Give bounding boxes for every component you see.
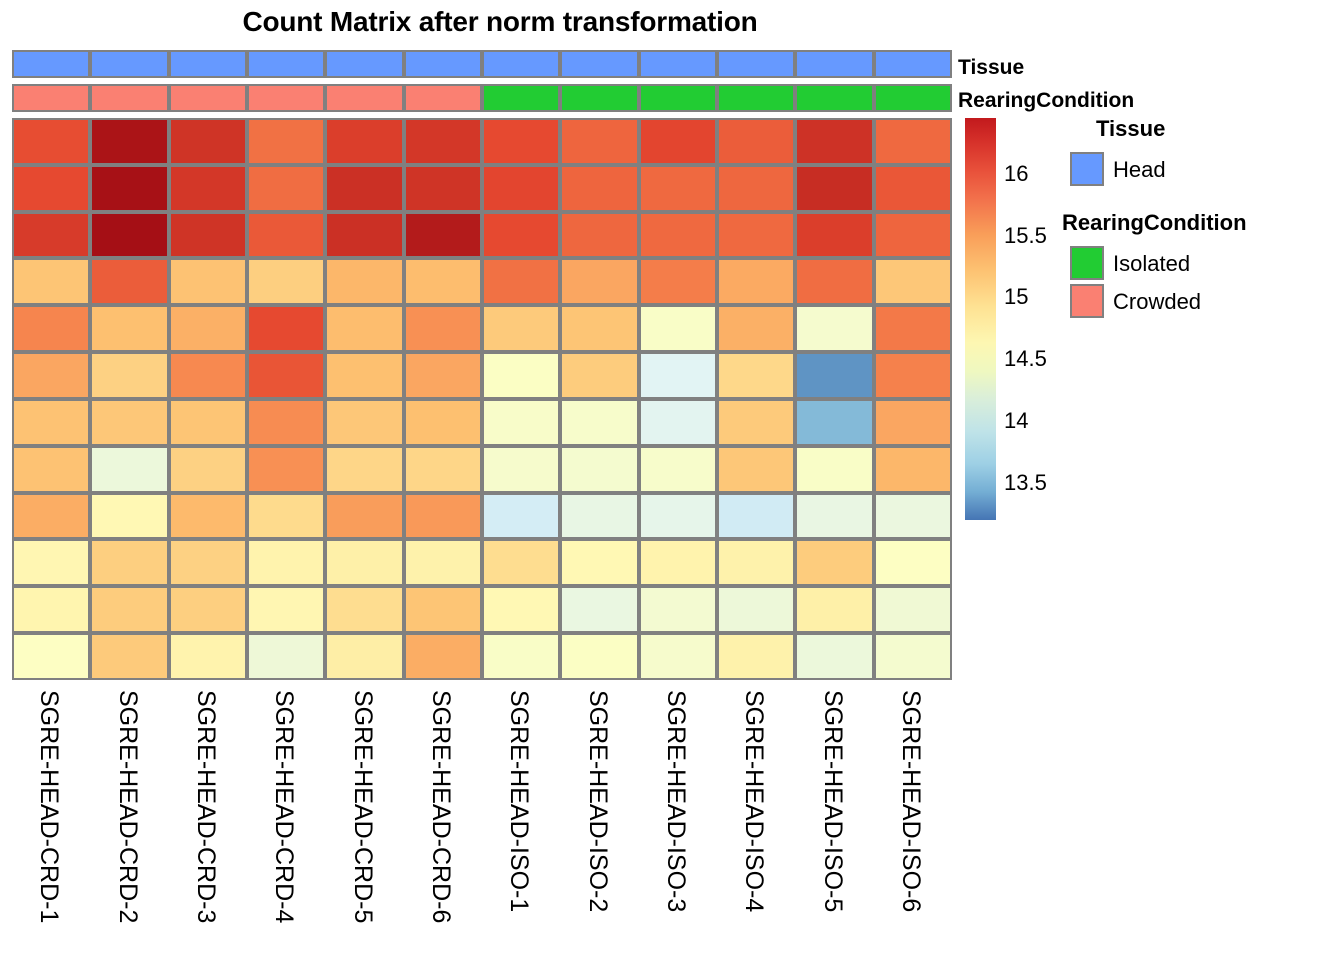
heatmap-cell-r1-c5 xyxy=(325,118,403,165)
colorbar-tick-14-5: 14.5 xyxy=(1004,348,1047,370)
rearing-annotation-cell-2 xyxy=(90,84,168,112)
heatmap-cell-r10-c2 xyxy=(90,539,168,586)
heatmap-cell-r2-c1 xyxy=(12,165,90,212)
heatmap-row xyxy=(12,305,952,352)
heatmap-cell-r3-c3 xyxy=(169,212,247,259)
heatmap-cell-r6-c12 xyxy=(874,352,952,399)
heatmap-cell-r12-c6 xyxy=(404,633,482,680)
heatmap-cell-r1-c4 xyxy=(247,118,325,165)
heatmap-cell-r1-c2 xyxy=(90,118,168,165)
heatmap-cell-r7-c7 xyxy=(482,399,560,446)
heatmap-cell-r6-c10 xyxy=(717,352,795,399)
heatmap-cell-r5-c7 xyxy=(482,305,560,352)
heatmap-row xyxy=(12,258,952,305)
heatmap-row xyxy=(12,586,952,633)
heatmap-cell-r11-c4 xyxy=(247,586,325,633)
heatmap-cell-r6-c11 xyxy=(795,352,873,399)
heatmap-cell-r9-c2 xyxy=(90,493,168,540)
heatmap-cell-r1-c10 xyxy=(717,118,795,165)
heatmap-row xyxy=(12,352,952,399)
tissue-annotation-cell-7 xyxy=(482,50,560,78)
heatmap-cell-r12-c10 xyxy=(717,633,795,680)
heatmap-cell-r8-c2 xyxy=(90,446,168,493)
heatmap-cell-r11-c12 xyxy=(874,586,952,633)
heatmap-cell-r2-c4 xyxy=(247,165,325,212)
heatmap-cell-r6-c1 xyxy=(12,352,90,399)
heatmap-cell-r8-c5 xyxy=(325,446,403,493)
heatmap-cell-r11-c3 xyxy=(169,586,247,633)
heatmap-cell-r12-c3 xyxy=(169,633,247,680)
heatmap-cell-r8-c10 xyxy=(717,446,795,493)
heatmap-cell-r10-c3 xyxy=(169,539,247,586)
rearing-annotation-cell-12 xyxy=(874,84,952,112)
tissue-annotation-cell-6 xyxy=(404,50,482,78)
x-axis-label-1: SGRE-HEAD-CRD-1 xyxy=(36,690,61,923)
heatmap-cell-r10-c9 xyxy=(639,539,717,586)
heatmap-cell-r11-c7 xyxy=(482,586,560,633)
heatmap-cell-r2-c9 xyxy=(639,165,717,212)
heatmap-cell-r6-c9 xyxy=(639,352,717,399)
heatmap-cell-r2-c3 xyxy=(169,165,247,212)
colorbar-tick-15: 15 xyxy=(1004,286,1028,308)
x-axis-label-4: SGRE-HEAD-CRD-4 xyxy=(271,690,296,923)
heatmap-cell-r9-c12 xyxy=(874,493,952,540)
heatmap-cell-r6-c4 xyxy=(247,352,325,399)
heatmap-cell-r12-c1 xyxy=(12,633,90,680)
heatmap-cell-r7-c4 xyxy=(247,399,325,446)
heatmap-cell-r1-c7 xyxy=(482,118,560,165)
heatmap-cell-r7-c6 xyxy=(404,399,482,446)
heatmap-cell-r12-c9 xyxy=(639,633,717,680)
heatmap-cell-r1-c1 xyxy=(12,118,90,165)
heatmap-cell-r5-c10 xyxy=(717,305,795,352)
heatmap-cell-r3-c12 xyxy=(874,212,952,259)
tissue-annotation-cell-8 xyxy=(560,50,638,78)
heatmap-cell-r8-c9 xyxy=(639,446,717,493)
heatmap-cell-r4-c1 xyxy=(12,258,90,305)
heatmap-cell-r6-c5 xyxy=(325,352,403,399)
heatmap-cell-r8-c7 xyxy=(482,446,560,493)
x-axis-label-2: SGRE-HEAD-CRD-2 xyxy=(115,690,140,923)
heatmap-cell-r9-c11 xyxy=(795,493,873,540)
heatmap-cell-r7-c3 xyxy=(169,399,247,446)
heatmap-cell-r4-c6 xyxy=(404,258,482,305)
tissue-annotation-cell-4 xyxy=(247,50,325,78)
tissue-annotation-cell-2 xyxy=(90,50,168,78)
heatmap-cell-r10-c4 xyxy=(247,539,325,586)
heatmap-cell-r10-c5 xyxy=(325,539,403,586)
heatmap-cell-r7-c10 xyxy=(717,399,795,446)
colorbar-tick-15-5: 15.5 xyxy=(1004,225,1047,247)
heatmap-cell-r2-c8 xyxy=(560,165,638,212)
rearing-annotation-cell-6 xyxy=(404,84,482,112)
heatmap-cell-r4-c3 xyxy=(169,258,247,305)
heatmap-cell-r3-c4 xyxy=(247,212,325,259)
heatmap-cell-r9-c5 xyxy=(325,493,403,540)
heatmap-cell-r10-c7 xyxy=(482,539,560,586)
heatmap-cell-r8-c4 xyxy=(247,446,325,493)
heatmap-cell-r10-c1 xyxy=(12,539,90,586)
rearing-annotation-cell-9 xyxy=(639,84,717,112)
heatmap-cell-r11-c1 xyxy=(12,586,90,633)
tissue-annotation-cell-10 xyxy=(717,50,795,78)
heatmap-row xyxy=(12,165,952,212)
tissue-annotation-cell-11 xyxy=(795,50,873,78)
tissue-annotation-bar xyxy=(12,50,952,78)
heatmap-cell-r9-c4 xyxy=(247,493,325,540)
heatmap-cell-r9-c8 xyxy=(560,493,638,540)
heatmap-cell-r10-c11 xyxy=(795,539,873,586)
page-title: Count Matrix after norm transformation xyxy=(0,2,1000,42)
x-axis-label-9: SGRE-HEAD-ISO-3 xyxy=(663,690,688,912)
heatmap-cell-r3-c7 xyxy=(482,212,560,259)
heatmap-cell-r4-c5 xyxy=(325,258,403,305)
heatmap-cell-r5-c8 xyxy=(560,305,638,352)
heatmap-cell-r5-c12 xyxy=(874,305,952,352)
x-axis-label-10: SGRE-HEAD-ISO-4 xyxy=(741,690,766,912)
heatmap-cell-r2-c11 xyxy=(795,165,873,212)
x-axis-label-5: SGRE-HEAD-CRD-5 xyxy=(350,690,375,923)
rearing-annotation-cell-7 xyxy=(482,84,560,112)
heatmap-cell-r11-c6 xyxy=(404,586,482,633)
heatmap-cell-r7-c8 xyxy=(560,399,638,446)
heatmap-cell-r7-c2 xyxy=(90,399,168,446)
heatmap-cell-r9-c7 xyxy=(482,493,560,540)
heatmap-cell-r7-c9 xyxy=(639,399,717,446)
heatmap-cell-r10-c6 xyxy=(404,539,482,586)
tissue-annotation-cell-12 xyxy=(874,50,952,78)
heatmap-cell-r10-c10 xyxy=(717,539,795,586)
rearing-annotation-cell-4 xyxy=(247,84,325,112)
heatmap-row xyxy=(12,539,952,586)
heatmap-cell-r4-c12 xyxy=(874,258,952,305)
heatmap-cell-r1-c6 xyxy=(404,118,482,165)
heatmap-cell-r6-c7 xyxy=(482,352,560,399)
heatmap-cell-r10-c12 xyxy=(874,539,952,586)
heatmap-cell-r11-c9 xyxy=(639,586,717,633)
legend-label-isolated: Isolated xyxy=(1113,253,1190,275)
heatmap-cell-r9-c9 xyxy=(639,493,717,540)
heatmap-cell-r3-c11 xyxy=(795,212,873,259)
heatmap-cell-r5-c11 xyxy=(795,305,873,352)
colorbar-tick-13-5: 13.5 xyxy=(1004,472,1047,494)
legend-swatch-head[interactable] xyxy=(1070,152,1104,186)
x-axis-label-3: SGRE-HEAD-CRD-3 xyxy=(193,690,218,923)
heatmap-cell-r8-c3 xyxy=(169,446,247,493)
heatmap-cell-r4-c11 xyxy=(795,258,873,305)
heatmap-cell-r11-c8 xyxy=(560,586,638,633)
heatmap-cell-r4-c8 xyxy=(560,258,638,305)
x-axis-label-11: SGRE-HEAD-ISO-5 xyxy=(820,690,845,912)
legend-swatch-crowded[interactable] xyxy=(1070,284,1104,318)
heatmap-row xyxy=(12,493,952,540)
heatmap-cell-r12-c12 xyxy=(874,633,952,680)
heatmap-cell-r9-c10 xyxy=(717,493,795,540)
heatmap-cell-r3-c8 xyxy=(560,212,638,259)
rearing-annotation-cell-11 xyxy=(795,84,873,112)
heatmap-cell-r8-c8 xyxy=(560,446,638,493)
heatmap-cell-r6-c6 xyxy=(404,352,482,399)
rearing-annotation-cell-5 xyxy=(325,84,403,112)
heatmap-cell-r2-c10 xyxy=(717,165,795,212)
heatmap-cell-r5-c9 xyxy=(639,305,717,352)
heatmap-cell-r2-c2 xyxy=(90,165,168,212)
heatmap-cell-r4-c9 xyxy=(639,258,717,305)
heatmap-cell-r2-c7 xyxy=(482,165,560,212)
heatmap-cell-r12-c2 xyxy=(90,633,168,680)
heatmap-cell-r2-c12 xyxy=(874,165,952,212)
heatmap-cell-r6-c8 xyxy=(560,352,638,399)
heatmap-cell-r5-c4 xyxy=(247,305,325,352)
heatmap-cell-r3-c5 xyxy=(325,212,403,259)
legend-title-tissue: Tissue xyxy=(1096,118,1165,140)
tissue-annotation-label: Tissue xyxy=(958,57,1024,78)
heatmap-cell-r5-c3 xyxy=(169,305,247,352)
heatmap-row xyxy=(12,118,952,165)
tissue-annotation-cell-5 xyxy=(325,50,403,78)
heatmap-cell-r7-c5 xyxy=(325,399,403,446)
heatmap-cell-r5-c1 xyxy=(12,305,90,352)
heatmap-cell-r12-c11 xyxy=(795,633,873,680)
heatmap-cell-r1-c12 xyxy=(874,118,952,165)
heatmap-cell-r1-c11 xyxy=(795,118,873,165)
x-axis-label-6: SGRE-HEAD-CRD-6 xyxy=(428,690,453,923)
heatmap-cell-r3-c1 xyxy=(12,212,90,259)
heatmap-cell-r8-c1 xyxy=(12,446,90,493)
heatmap-cell-r5-c2 xyxy=(90,305,168,352)
rearing-annotation-cell-1 xyxy=(12,84,90,112)
legend-label-head: Head xyxy=(1113,159,1166,181)
tissue-annotation-cell-1 xyxy=(12,50,90,78)
heatmap-row xyxy=(12,399,952,446)
heatmap-cell-r3-c6 xyxy=(404,212,482,259)
heatmap-grid xyxy=(12,118,952,680)
heatmap-row xyxy=(12,212,952,259)
colorbar-tick-14: 14 xyxy=(1004,410,1028,432)
heatmap-cell-r8-c6 xyxy=(404,446,482,493)
heatmap-cell-r1-c3 xyxy=(169,118,247,165)
heatmap-cell-r2-c6 xyxy=(404,165,482,212)
heatmap-cell-r1-c9 xyxy=(639,118,717,165)
tissue-annotation-cell-3 xyxy=(169,50,247,78)
heatmap-cell-r6-c3 xyxy=(169,352,247,399)
rearing-annotation-cell-8 xyxy=(560,84,638,112)
heatmap-cell-r12-c5 xyxy=(325,633,403,680)
heatmap-cell-r5-c5 xyxy=(325,305,403,352)
heatmap-cell-r9-c6 xyxy=(404,493,482,540)
heatmap-cell-r4-c10 xyxy=(717,258,795,305)
heatmap-cell-r3-c10 xyxy=(717,212,795,259)
heatmap-cell-r1-c8 xyxy=(560,118,638,165)
heatmap-row xyxy=(12,633,952,680)
heatmap-cell-r6-c2 xyxy=(90,352,168,399)
heatmap-cell-r10-c8 xyxy=(560,539,638,586)
heatmap-cell-r11-c5 xyxy=(325,586,403,633)
heatmap-cell-r12-c7 xyxy=(482,633,560,680)
heatmap-cell-r5-c6 xyxy=(404,305,482,352)
heatmap-cell-r9-c1 xyxy=(12,493,90,540)
tissue-annotation-cell-9 xyxy=(639,50,717,78)
heatmap-cell-r3-c2 xyxy=(90,212,168,259)
heatmap-cell-r12-c8 xyxy=(560,633,638,680)
heatmap-cell-r12-c4 xyxy=(247,633,325,680)
heatmap-cell-r7-c11 xyxy=(795,399,873,446)
x-axis-label-12: SGRE-HEAD-ISO-6 xyxy=(898,690,923,912)
colorbar-tick-16: 16 xyxy=(1004,163,1028,185)
rearing-condition-annotation-bar xyxy=(12,84,952,112)
rearing-condition-annotation-label: RearingCondition xyxy=(958,90,1134,111)
colorbar-gradient xyxy=(965,118,996,520)
heatmap-cell-r7-c1 xyxy=(12,399,90,446)
heatmap-cell-r4-c4 xyxy=(247,258,325,305)
heatmap-cell-r9-c3 xyxy=(169,493,247,540)
legend-swatch-isolated[interactable] xyxy=(1070,246,1104,280)
rearing-annotation-cell-10 xyxy=(717,84,795,112)
heatmap-row xyxy=(12,446,952,493)
heatmap-cell-r2-c5 xyxy=(325,165,403,212)
heatmap-cell-r7-c12 xyxy=(874,399,952,446)
legend-label-crowded: Crowded xyxy=(1113,291,1201,313)
heatmap-cell-r11-c11 xyxy=(795,586,873,633)
heatmap-cell-r4-c7 xyxy=(482,258,560,305)
heatmap-cell-r8-c11 xyxy=(795,446,873,493)
x-axis-label-7: SGRE-HEAD-ISO-1 xyxy=(506,690,531,912)
rearing-annotation-cell-3 xyxy=(169,84,247,112)
heatmap-cell-r11-c10 xyxy=(717,586,795,633)
heatmap-cell-r3-c9 xyxy=(639,212,717,259)
heatmap-cell-r8-c12 xyxy=(874,446,952,493)
heatmap-cell-r11-c2 xyxy=(90,586,168,633)
legend-title-rearingcondition: RearingCondition xyxy=(1062,212,1247,234)
x-axis-label-8: SGRE-HEAD-ISO-2 xyxy=(585,690,610,912)
heatmap-cell-r4-c2 xyxy=(90,258,168,305)
